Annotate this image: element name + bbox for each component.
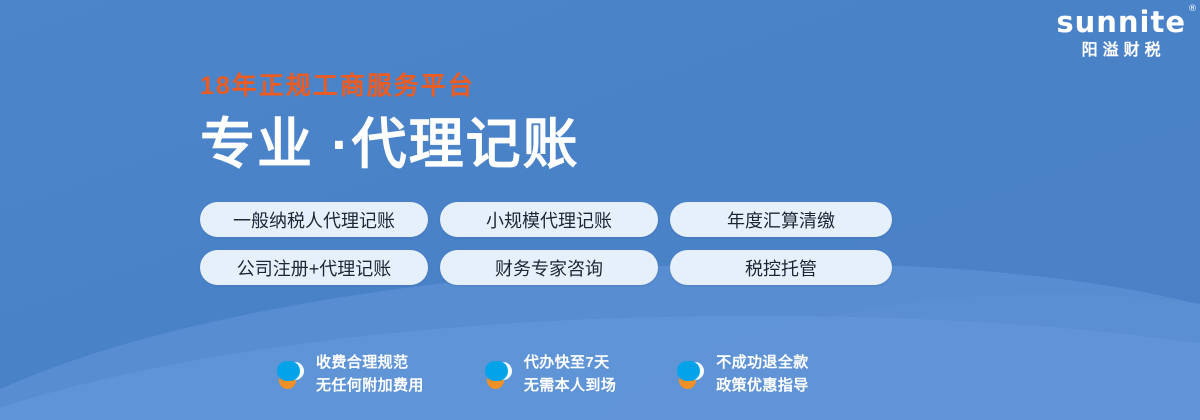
feature-line-1: 收费合理规范 xyxy=(316,352,424,375)
service-pill-row: 一般纳税人代理记账 小规模代理记账 年度汇算清缴 xyxy=(200,202,892,237)
feature-item-guarantee: 不成功退全款 政策优惠指导 xyxy=(676,352,808,398)
feature-text-pricing: 收费合理规范 无任何附加费用 xyxy=(316,352,424,398)
logo-wordmark: sunnite ® xyxy=(1056,8,1186,37)
feature-item-pricing: 收费合理规范 无任何附加费用 xyxy=(276,352,424,398)
icon-crescent-mask xyxy=(280,361,300,381)
service-pill-annual-settlement[interactable]: 年度汇算清缴 xyxy=(670,202,892,237)
promo-banner: sunnite ® 阳溢财税 18年正规工商服务平台 专业 ·代理记账 一般纳税… xyxy=(0,0,1200,420)
logo-wordmark-text: sunnite xyxy=(1056,5,1186,39)
registered-trademark-icon: ® xyxy=(1188,5,1198,14)
feature-line-2: 无任何附加费用 xyxy=(316,375,424,398)
half-circle-icon xyxy=(276,360,305,390)
half-circle-icon xyxy=(484,360,513,390)
service-pill-tax-control-hosting[interactable]: 税控托管 xyxy=(670,250,892,285)
feature-strip: 收费合理规范 无任何附加费用 代办快至7天 无需本人到场 xyxy=(276,352,809,398)
service-pill-small-scale-bookkeeping[interactable]: 小规模代理记账 xyxy=(440,202,658,237)
icon-crescent-mask xyxy=(680,361,700,381)
feature-text-guarantee: 不成功退全款 政策优惠指导 xyxy=(716,352,808,398)
icon-crescent-mask xyxy=(488,361,508,381)
headline-title: 专业 ·代理记账 xyxy=(200,114,580,176)
service-pill-row: 公司注册+代理记账 财务专家咨询 税控托管 xyxy=(200,250,892,285)
service-pill-finance-expert-consulting[interactable]: 财务专家咨询 xyxy=(440,250,658,285)
logo-chinese-name: 阳溢财税 xyxy=(1056,43,1186,59)
half-circle-icon xyxy=(676,360,705,390)
feature-line-1: 代办快至7天 xyxy=(524,352,616,375)
headline-eyebrow: 18年正规工商服务平台 xyxy=(200,74,580,99)
service-pill-grid: 一般纳税人代理记账 小规模代理记账 年度汇算清缴 公司注册+代理记账 财务专家咨… xyxy=(200,202,892,285)
service-pill-general-taxpayer-bookkeeping[interactable]: 一般纳税人代理记账 xyxy=(200,202,428,237)
feature-line-1: 不成功退全款 xyxy=(716,352,808,375)
feature-item-speed: 代办快至7天 无需本人到场 xyxy=(484,352,616,398)
headline-block: 18年正规工商服务平台 专业 ·代理记账 xyxy=(200,74,580,176)
feature-line-2: 无需本人到场 xyxy=(524,375,616,398)
brand-logo[interactable]: sunnite ® 阳溢财税 xyxy=(1056,8,1186,59)
feature-text-speed: 代办快至7天 无需本人到场 xyxy=(524,352,616,398)
feature-line-2: 政策优惠指导 xyxy=(716,375,808,398)
service-pill-company-registration-bookkeeping[interactable]: 公司注册+代理记账 xyxy=(200,250,428,285)
